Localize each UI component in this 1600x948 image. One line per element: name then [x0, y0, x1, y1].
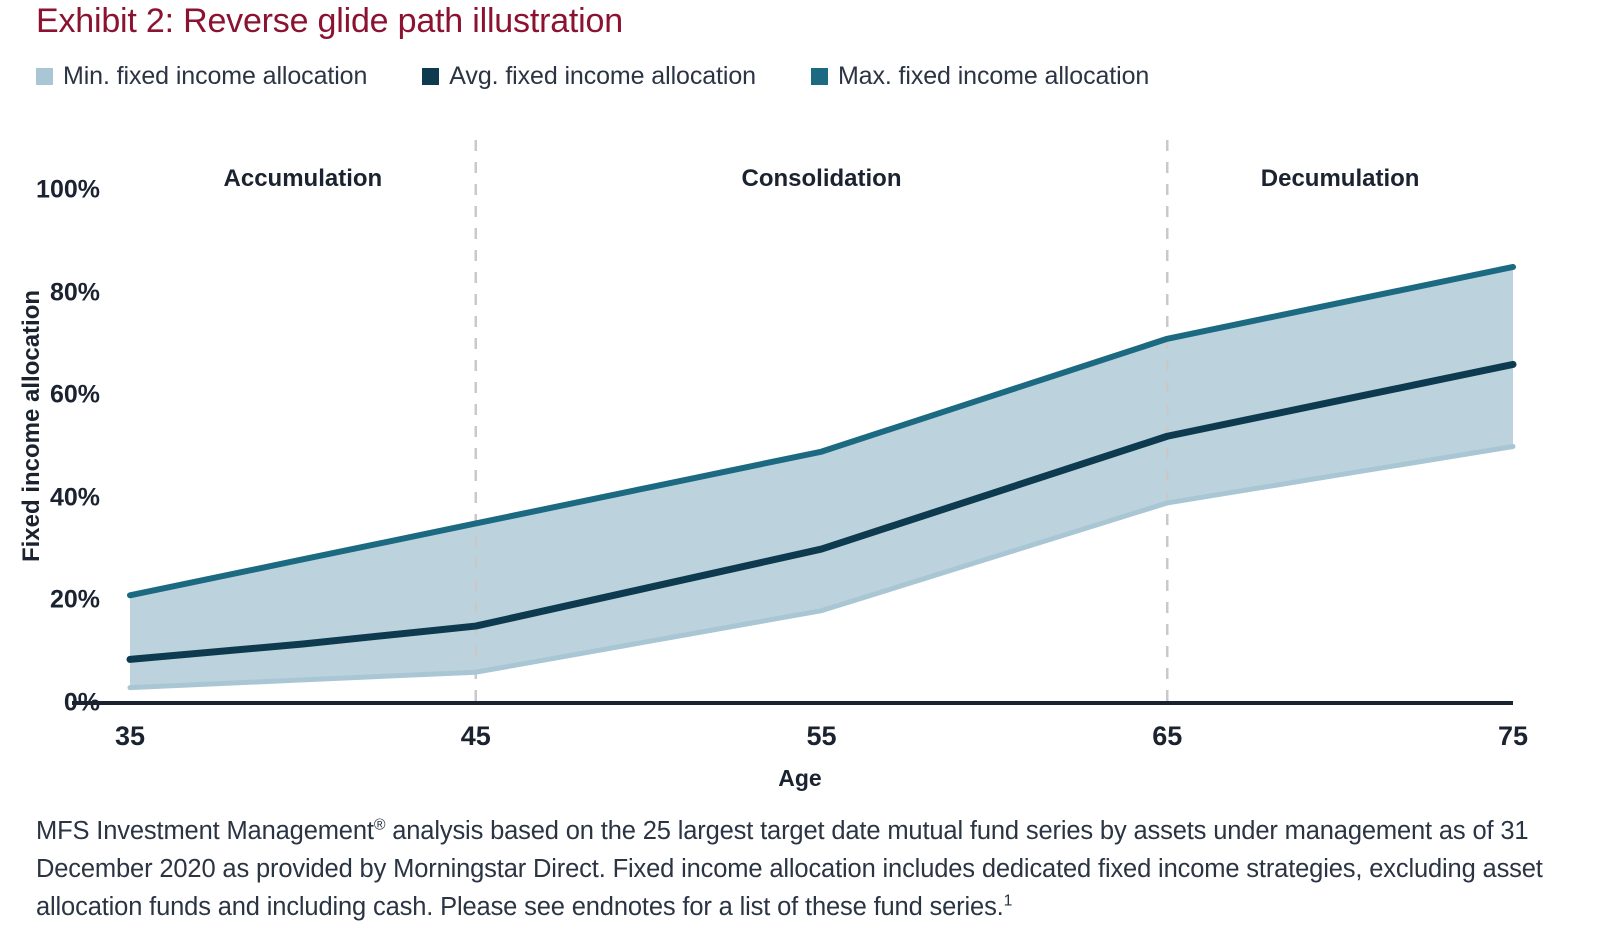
x-tick-label: 55	[762, 721, 882, 752]
legend-swatch-max-icon	[811, 68, 828, 85]
footnote: MFS Investment Management® analysis base…	[36, 812, 1566, 926]
y-tick-label: 80%	[0, 278, 100, 307]
x-tick-label: 65	[1107, 721, 1227, 752]
legend-label-avg: Avg. fixed income allocation	[449, 62, 756, 91]
y-tick-label: 60%	[0, 381, 100, 410]
phase-label: Consolidation	[742, 165, 902, 193]
allocation-band	[130, 267, 1513, 688]
page-title: Exhibit 2: Reverse glide path illustrati…	[36, 2, 623, 41]
footnote-part1: MFS Investment Management	[36, 817, 374, 845]
endnote-marker: 1	[1004, 893, 1013, 910]
legend-item-max: Max. fixed income allocation	[811, 62, 1149, 91]
y-tick-label: 20%	[0, 586, 100, 615]
chart-plot-area: Fixed income allocation Age 0%20%40%60%8…	[0, 120, 1600, 800]
legend-item-min: Min. fixed income allocation	[36, 62, 367, 91]
phase-label: Decumulation	[1261, 165, 1420, 193]
glide-path-svg	[0, 120, 1600, 800]
chart-legend: Min. fixed income allocation Avg. fixed …	[36, 62, 1149, 91]
phase-label: Accumulation	[224, 165, 383, 193]
x-tick-label: 35	[70, 721, 190, 752]
y-tick-label: 40%	[0, 483, 100, 512]
legend-swatch-avg-icon	[422, 68, 439, 85]
legend-item-avg: Avg. fixed income allocation	[422, 62, 756, 91]
y-tick-label: 0%	[0, 689, 100, 718]
y-tick-label: 100%	[0, 176, 100, 205]
legend-label-max: Max. fixed income allocation	[838, 62, 1149, 91]
legend-swatch-min-icon	[36, 68, 53, 85]
registered-mark-icon: ®	[374, 817, 386, 834]
x-tick-label: 45	[416, 721, 536, 752]
legend-label-min: Min. fixed income allocation	[63, 62, 367, 91]
x-tick-label: 75	[1453, 721, 1573, 752]
